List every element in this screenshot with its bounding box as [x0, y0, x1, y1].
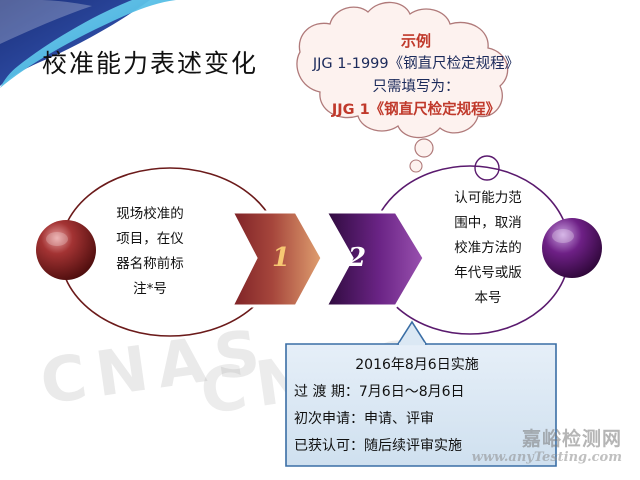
slide-canvas: 校准能力表述变化 CNAS CNAS — [0, 0, 640, 480]
chevron-2-number: 2 — [348, 243, 366, 273]
right-circle-text: 认可能力范 围中，取消 校准方法的 年代号或版 本号 — [436, 186, 540, 311]
cloud-line-4: JJG 1《钢直尺检定规程》 — [288, 99, 544, 122]
left-line-3: 器名称前标 — [98, 252, 202, 277]
bottom-line-2: 过 渡 期：7月6日～8月6日 — [294, 379, 540, 406]
bottom-callout-text: 2016年8月6日实施 过 渡 期：7月6日～8月6日 初次申请：申请、评审 已… — [294, 352, 540, 460]
left-line-2: 项目，在仪 — [98, 227, 202, 252]
left-line-1: 现场校准的 — [98, 202, 202, 227]
bottom-line-4: 已获认可：随后续评审实施 — [294, 433, 540, 460]
bottom-line-3: 初次申请：申请、评审 — [294, 406, 540, 433]
left-circle-text: 现场校准的 项目，在仪 器名称前标 注*号 — [98, 202, 202, 302]
cloud-callout-text: 示例 JJG 1-1999《钢直尺检定规程》 只需填写为： JJG 1《钢直尺检… — [288, 30, 544, 122]
cloud-line-1: 示例 — [288, 30, 544, 53]
chevron-1-number: 1 — [272, 243, 290, 273]
right-line-4: 年代号或版 — [436, 261, 540, 286]
right-line-3: 校准方法的 — [436, 236, 540, 261]
left-line-4: 注*号 — [98, 277, 202, 302]
right-line-5: 本号 — [436, 286, 540, 311]
right-line-2: 围中，取消 — [436, 211, 540, 236]
cloud-line-3: 只需填写为： — [288, 76, 544, 99]
bottom-line-1: 2016年8月6日实施 — [294, 352, 540, 379]
cloud-line-2: JJG 1-1999《钢直尺检定规程》 — [288, 53, 544, 76]
right-line-1: 认可能力范 — [436, 186, 540, 211]
